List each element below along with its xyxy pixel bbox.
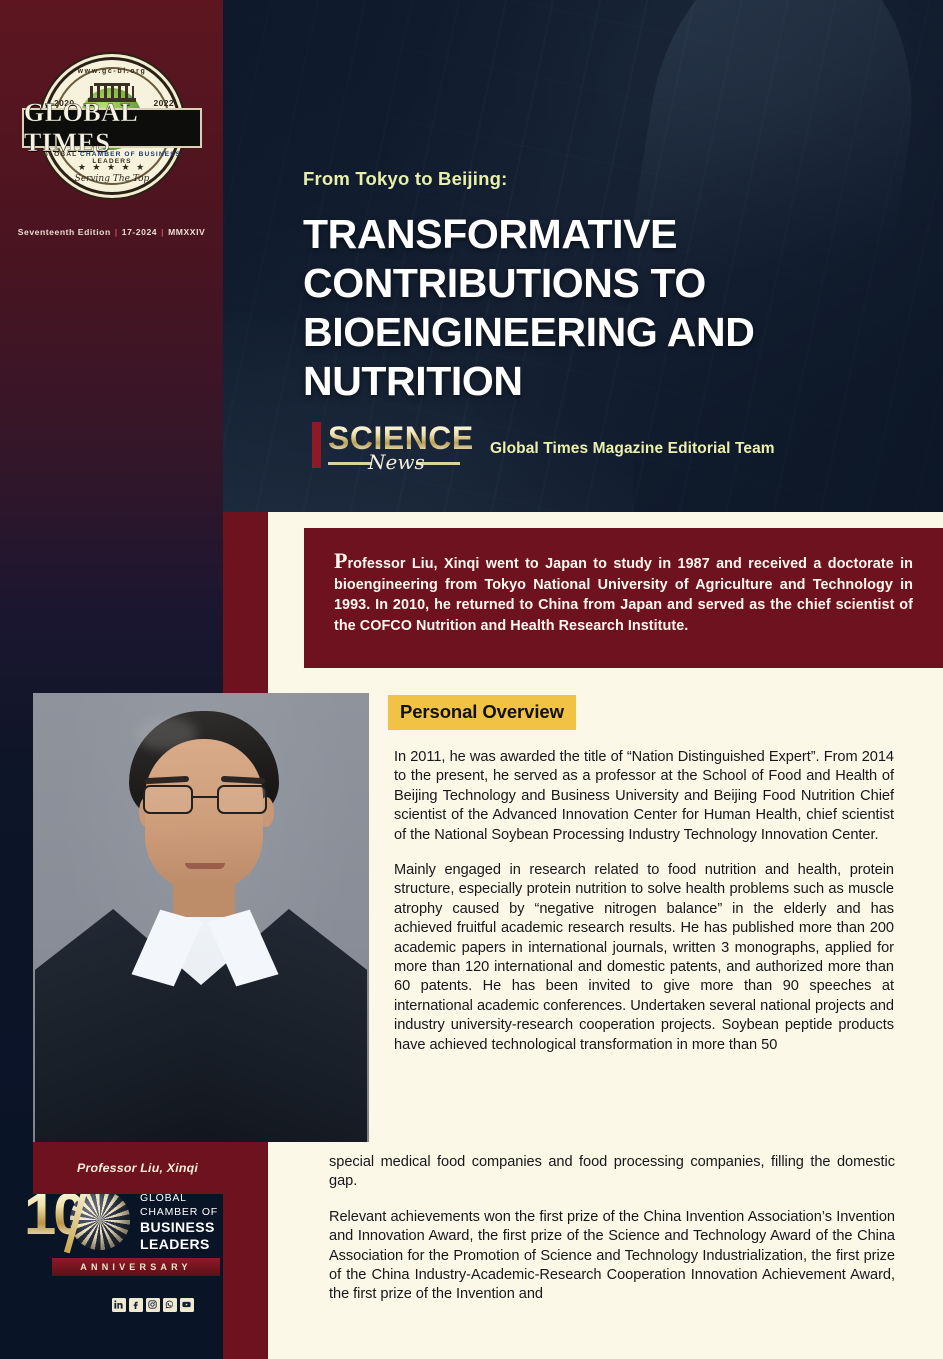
section-title-badge: Personal Overview	[388, 695, 576, 730]
red-band-top-extension	[223, 512, 268, 657]
article-column-wide: special medical food companies and food …	[329, 1153, 895, 1305]
hero-byline: Global Times Magazine Editorial Team	[490, 440, 775, 458]
hero-kicker: From Tokyo to Beijing:	[303, 168, 507, 190]
article-paragraph: Mainly engaged in research related to fo…	[394, 861, 894, 1055]
science-news-script: News	[368, 450, 425, 474]
intro-callout-box: Professor Liu, Xinqi went to Japan to st…	[304, 528, 943, 668]
magazine-page: www.gc-bl.org 2020 2022 GLOBAL TIMES GLO…	[0, 0, 943, 1359]
edition-sep-1: |	[111, 227, 122, 237]
edition-number: 17-2024	[122, 227, 157, 237]
logo-wordmark-band: GLOBAL TIMES	[22, 108, 202, 148]
portrait-caption: Professor Liu, Xinqi	[33, 1142, 266, 1194]
anniversary-line-4: LEADERS	[140, 1236, 218, 1253]
article-column-narrow: In 2011, he was awarded the title of “Na…	[394, 748, 894, 1055]
anniversary-logo: 10 GLOBAL CHAMBER OF BUSINESS LEADERS AN…	[22, 1182, 220, 1280]
intro-text: rofessor Liu, Xinqi went to Japan to stu…	[334, 556, 913, 634]
youtube-icon[interactable]	[180, 1298, 194, 1312]
social-links[interactable]	[112, 1298, 194, 1312]
portrait-lens-right	[217, 785, 267, 814]
portrait-photo: Professor Liu, Xinqi	[33, 693, 369, 1142]
anniversary-line-2: CHAMBER OF	[140, 1206, 218, 1220]
logo-stars: ★ ★ ★ ★ ★	[68, 162, 156, 173]
linkedin-icon[interactable]	[112, 1298, 126, 1312]
edition-roman: MMXXIV	[168, 227, 205, 237]
portrait-mouth	[185, 863, 225, 869]
anniversary-line-3: BUSINESS	[140, 1219, 218, 1236]
hero-headline: TRANSFORMATIVE CONTRIBUTIONS TO BIOENGIN…	[303, 210, 923, 406]
article-paragraph: Relevant achievements won the first priz…	[329, 1208, 895, 1305]
intro-paragraph: Professor Liu, Xinqi went to Japan to st…	[334, 554, 913, 636]
section-title-label: Personal Overview	[400, 701, 564, 722]
portrait-image	[33, 693, 369, 1142]
anniversary-banner: ANNIVERSARY	[52, 1258, 220, 1276]
edition-name: Seventeenth Edition	[18, 227, 111, 237]
anniversary-banner-label: ANNIVERSARY	[80, 1262, 191, 1272]
logo-wordmark: GLOBAL TIMES	[24, 98, 200, 158]
anniversary-org-name: GLOBAL CHAMBER OF BUSINESS LEADERS	[140, 1192, 218, 1252]
logo-motto: Serving The Top	[58, 174, 166, 184]
article-paragraph: In 2011, he was awarded the title of “Na…	[394, 748, 894, 845]
whatsapp-icon[interactable]	[163, 1298, 177, 1312]
instagram-icon[interactable]	[146, 1298, 160, 1312]
global-times-logo: www.gc-bl.org 2020 2022 GLOBAL TIMES GLO…	[18, 58, 206, 206]
science-accent-bar	[312, 422, 321, 468]
article-paragraph: special medical food companies and food …	[329, 1153, 895, 1192]
science-rule-left	[328, 462, 372, 465]
intro-dropcap: P	[334, 548, 348, 573]
logo-url: www.gc-bl.org	[46, 68, 178, 75]
edition-line: Seventeenth Edition|17-2024|MMXXIV	[0, 227, 223, 237]
edition-sep-2: |	[157, 227, 168, 237]
facebook-icon[interactable]	[129, 1298, 143, 1312]
anniversary-line-1: GLOBAL	[140, 1192, 218, 1206]
portrait-lens-left	[143, 785, 193, 814]
portrait-glasses	[143, 785, 267, 815]
portrait-bridge	[193, 796, 217, 798]
portrait-caption-label: Professor Liu, Xinqi	[77, 1161, 198, 1175]
